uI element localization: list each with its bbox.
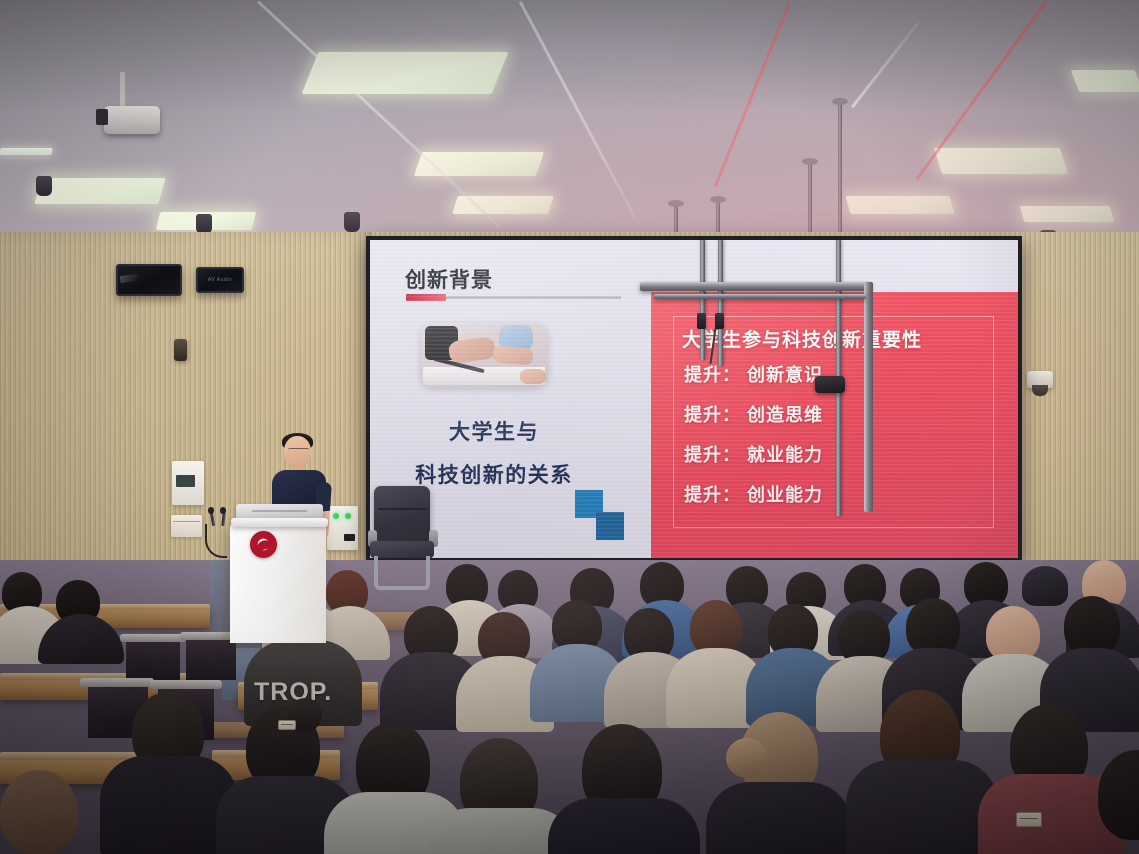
red-panel-bullet-1: 提升： 创新意识 xyxy=(684,361,823,387)
audience-head xyxy=(1064,596,1120,656)
suspended-track-post xyxy=(864,282,873,512)
hanging-rod-left xyxy=(700,240,705,360)
slide-title: 创新背景 xyxy=(405,264,493,294)
chair-legs xyxy=(374,556,430,590)
panel-slot xyxy=(344,534,355,541)
seat-armrest xyxy=(150,680,222,689)
jacket-badge xyxy=(1016,812,1042,827)
display-glare xyxy=(120,272,149,283)
slide-title-accent-bar xyxy=(406,294,446,301)
audience-shoulders xyxy=(706,782,852,854)
photo-hand xyxy=(448,336,496,363)
photo-hand xyxy=(520,369,546,384)
hair-clip xyxy=(278,720,296,730)
slide-photo-thumbnail xyxy=(421,323,548,387)
rod-clip xyxy=(715,313,724,329)
ceiling xyxy=(0,0,1139,250)
seat-back xyxy=(186,636,236,680)
audience-head xyxy=(0,770,78,854)
audience-head-cap xyxy=(1022,566,1068,606)
info-plate-text xyxy=(173,521,199,523)
seat-armrest xyxy=(120,634,186,642)
podium xyxy=(230,525,326,643)
slide-left-heading-line2: 科技创新的关系 xyxy=(374,459,614,489)
suspended-track-rail xyxy=(640,282,872,291)
podium-mic-head xyxy=(208,507,214,514)
hair-bun xyxy=(726,738,768,778)
wall-control-box xyxy=(172,461,204,505)
red-panel-bullet-2: 提升： 创造思维 xyxy=(684,401,823,427)
chair-backrest xyxy=(374,486,430,546)
suspended-microphone xyxy=(815,376,845,393)
wall-display-panel-1 xyxy=(116,264,182,296)
wall-info-plate xyxy=(171,515,202,537)
audience-shoulders-jacket xyxy=(846,760,998,854)
hanging-rod-mid xyxy=(718,240,723,366)
power-led-icon xyxy=(333,513,339,519)
slide-left-heading-line1: 大学生与 xyxy=(384,416,604,446)
control-box-lcd xyxy=(176,475,195,486)
red-panel-bullet-3: 提升： 就业能力 xyxy=(684,441,823,467)
stage-chair[interactable] xyxy=(368,486,438,596)
display-label: AV Audio xyxy=(208,277,232,283)
suspended-track-rail-lower xyxy=(654,294,866,299)
audience-area: TROP. xyxy=(0,560,1139,854)
podium-desktop xyxy=(231,518,328,527)
red-panel-bullet-4: 提升： 创业能力 xyxy=(684,481,823,507)
security-camera-icon xyxy=(174,339,187,361)
status-led-icon xyxy=(345,513,351,519)
slide-red-panel: 大学生参与科技创新重要性 提升： 创新意识 提升： 创造思维 提升： 就业能力 … xyxy=(651,292,1018,558)
photo-hand xyxy=(492,345,533,365)
podium-mic-head-2 xyxy=(220,507,226,514)
rod-clip xyxy=(697,313,706,329)
wall-display-panel-2: AV Audio xyxy=(196,267,244,293)
seat-armrest xyxy=(80,678,154,687)
slide-decor-square-dark xyxy=(596,512,624,540)
audience-shoulders xyxy=(548,798,700,854)
wall-speaker xyxy=(1027,371,1053,388)
podium-emblem-icon xyxy=(250,531,277,558)
glasses-icon xyxy=(288,448,309,453)
ceiling-shading xyxy=(0,0,1139,250)
lecture-hall-photo: AV Audio 创新背景 大学生 xyxy=(0,0,1139,854)
